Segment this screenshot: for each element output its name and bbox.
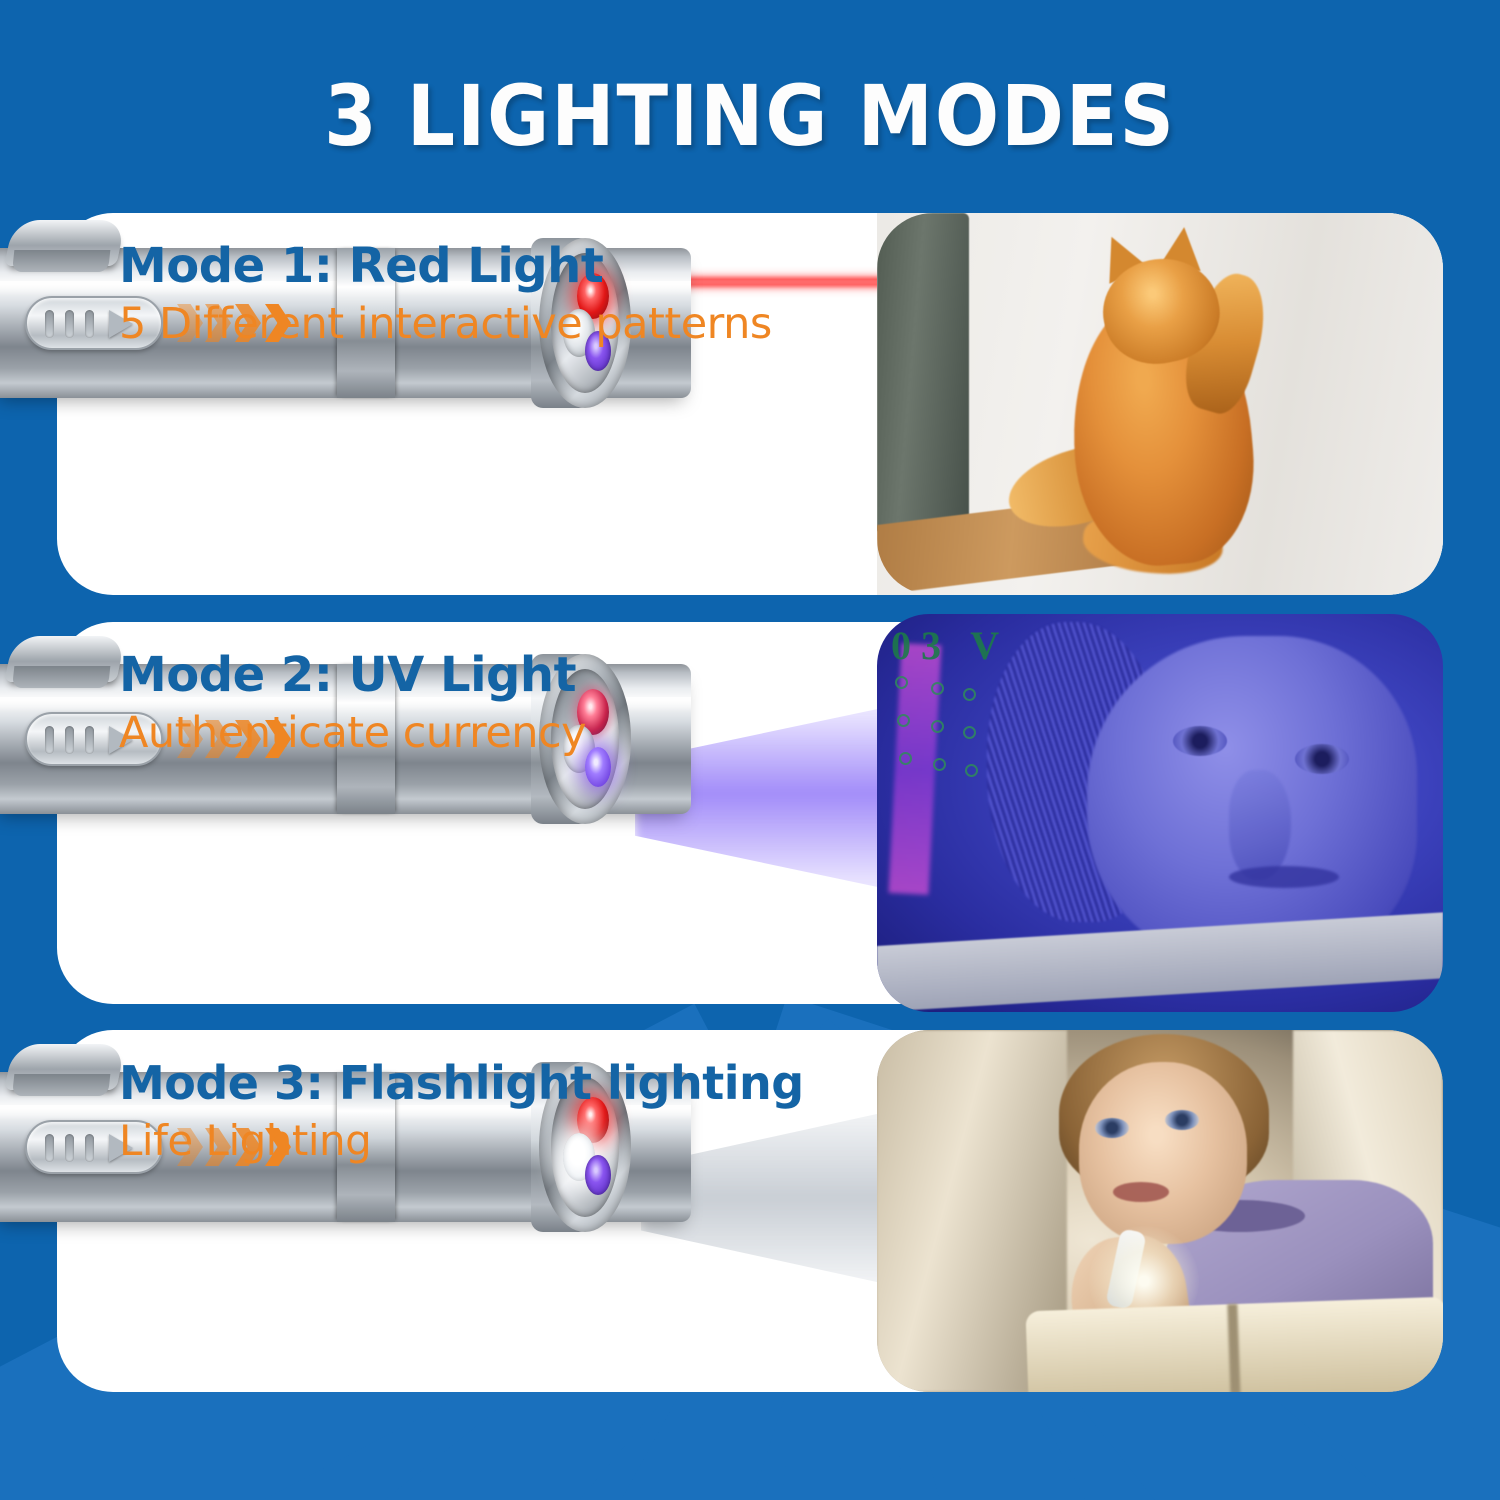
- portrait-mouth: [1229, 866, 1339, 888]
- mode-2-heading: Mode 2: UV Light: [119, 646, 586, 704]
- girl-eye-left: [1095, 1118, 1129, 1138]
- cat-scene: [877, 213, 1443, 595]
- pocket-clip: [4, 220, 126, 266]
- pocket-clip: [4, 1044, 126, 1090]
- button-bar-3: [85, 1134, 94, 1162]
- mode-3-heading: Mode 3: Flashlight lighting: [119, 1054, 804, 1112]
- button-bar-2: [65, 1134, 74, 1162]
- mode-1-heading: Mode 1: Red Light: [119, 237, 772, 295]
- mode-3-photo: [877, 1030, 1443, 1392]
- mode-2-heading-group: Mode 2: UV Light Authenticate currency: [119, 646, 586, 760]
- button-bar-2: [65, 310, 74, 338]
- mode-1-heading-group: Mode 1: Red Light 5 Different interactiv…: [119, 237, 772, 351]
- banknote-scene: 03 V: [877, 614, 1443, 1012]
- portrait-eye-right: [1295, 744, 1349, 774]
- mode-card-1[interactable]: Mode 1: Red Light 5 Different interactiv…: [57, 213, 1443, 595]
- mode-1-photo: [877, 213, 1443, 595]
- mode-2-subheading: Authenticate currency: [119, 706, 586, 760]
- page-title: 3 LIGHTING MODES: [0, 68, 1500, 164]
- portrait-eye-left: [1173, 726, 1227, 756]
- mode-2-photo: 03 V: [877, 614, 1443, 1012]
- button-bar-1: [45, 1134, 54, 1162]
- girl-face: [1079, 1062, 1247, 1244]
- banknote-serial-text: 03 V: [891, 622, 1009, 669]
- curtain: [877, 213, 969, 531]
- mode-3-heading-group: Mode 3: Flashlight lighting Life Lightin…: [119, 1054, 804, 1168]
- infographic-canvas: 3 LIGHTING MODES Mode 1: Red Light 5 Dif…: [0, 0, 1500, 1500]
- girl-eye-right: [1165, 1110, 1199, 1130]
- portrait-nose: [1229, 770, 1291, 880]
- button-bar-3: [85, 310, 94, 338]
- button-bar-3: [85, 726, 94, 754]
- mode-1-subheading: 5 Different interactive patterns: [119, 297, 772, 351]
- button-bar-2: [65, 726, 74, 754]
- button-bar-1: [45, 310, 54, 338]
- mode-card-2[interactable]: Mode 2: UV Light Authenticate currency 0…: [57, 622, 1443, 1004]
- mode-card-3[interactable]: Mode 3: Flashlight lighting Life Lightin…: [57, 1030, 1443, 1392]
- girl-scene: [877, 1030, 1443, 1392]
- mode-3-subheading: Life Lighting: [119, 1114, 804, 1168]
- open-book: [1025, 1297, 1443, 1392]
- girl-mouth: [1113, 1182, 1169, 1202]
- microprint-dots: [891, 672, 973, 802]
- button-bar-1: [45, 726, 54, 754]
- uv-led-lens: [585, 747, 611, 787]
- pocket-clip: [4, 636, 126, 682]
